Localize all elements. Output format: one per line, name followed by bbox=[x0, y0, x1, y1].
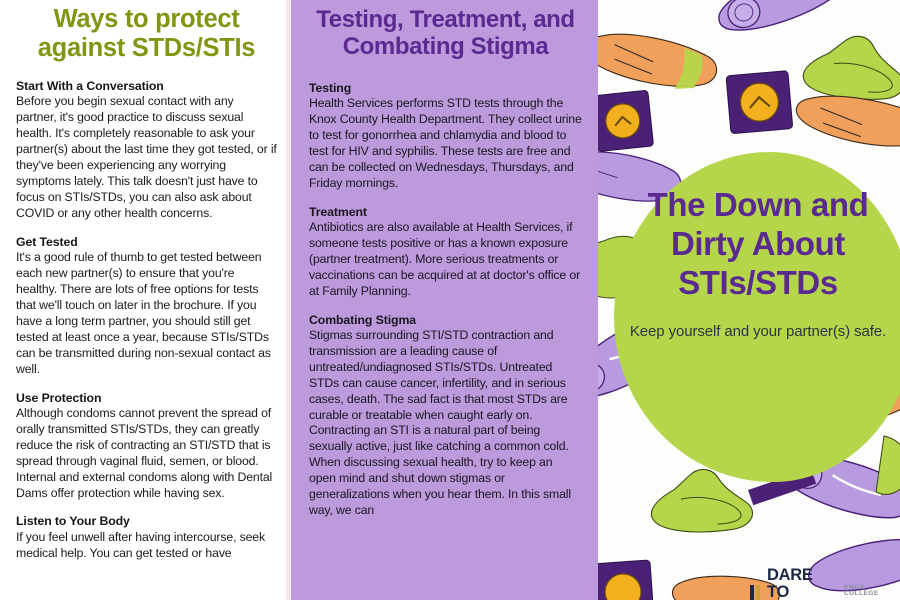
middle-panel-title: Testing, Treatment, and Combating Stigma bbox=[309, 4, 582, 61]
section-testing: Testing Health Services performs STD tes… bbox=[309, 81, 582, 192]
section-listen-to-your-body: Listen to Your Body If you feel unwell a… bbox=[16, 514, 277, 561]
section-get-tested: Get Tested It's a good rule of thumb to … bbox=[16, 235, 277, 378]
logo-org-name: KNOX COLLEGE bbox=[844, 585, 900, 600]
panel-left: Ways to protect against STDs/STIs Start … bbox=[0, 0, 291, 600]
section-heading: Start With a Conversation bbox=[16, 79, 277, 94]
brochure-page: Ways to protect against STDs/STIs Start … bbox=[0, 0, 900, 600]
panel-right-cover: The Down and Dirty About STIs/STDs Keep … bbox=[598, 0, 900, 600]
logo-wordmark: DARE TO bbox=[767, 567, 837, 600]
section-body: If you feel unwell after having intercou… bbox=[16, 530, 277, 562]
logo-bar-gold bbox=[756, 585, 760, 600]
left-panel-title: Ways to protect against STDs/STIs bbox=[16, 4, 277, 63]
cover-subtitle: Keep yourself and your partner(s) safe. bbox=[616, 322, 900, 342]
section-start-with-a-conversation: Start With a Conversation Before you beg… bbox=[16, 79, 277, 222]
section-body: It's a good rule of thumb to get tested … bbox=[16, 250, 277, 377]
panel-middle: Testing, Treatment, and Combating Stigma… bbox=[291, 0, 598, 600]
section-use-protection: Use Protection Although condoms cannot p… bbox=[16, 391, 277, 502]
section-heading: Get Tested bbox=[16, 235, 277, 250]
cover-text-block: The Down and Dirty About STIs/STDs Keep … bbox=[616, 186, 900, 341]
section-body: Before you begin sexual contact with any… bbox=[16, 94, 277, 221]
cover-title: The Down and Dirty About STIs/STDs bbox=[616, 186, 900, 303]
section-heading: Listen to Your Body bbox=[16, 514, 277, 529]
section-heading: Combating Stigma bbox=[309, 313, 582, 328]
section-treatment: Treatment Antibiotics are also available… bbox=[309, 205, 582, 300]
section-body: Health Services performs STD tests throu… bbox=[309, 96, 582, 192]
section-body: Although condoms cannot prevent the spre… bbox=[16, 406, 277, 502]
section-body: Antibiotics are also available at Health… bbox=[309, 220, 582, 300]
dare-to-knox-college-logo: DARE TO KNOX COLLEGE bbox=[750, 567, 900, 600]
section-heading: Testing bbox=[309, 81, 582, 96]
section-combating-stigma: Combating Stigma Stigmas surrounding STI… bbox=[309, 313, 582, 519]
section-heading: Treatment bbox=[309, 205, 582, 220]
section-heading: Use Protection bbox=[16, 391, 277, 406]
section-body: Stigmas surrounding STI/STD contraction … bbox=[309, 328, 582, 519]
logo-bar-navy bbox=[750, 585, 754, 600]
logo-bars-icon bbox=[750, 585, 760, 600]
